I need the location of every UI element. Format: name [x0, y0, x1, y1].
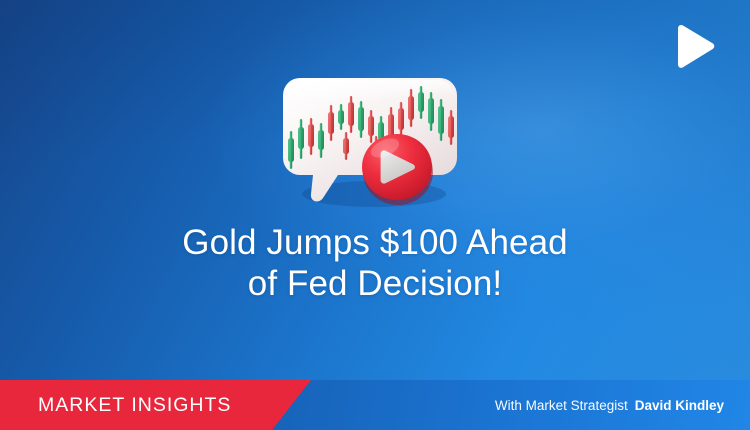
credit-prefix: With Market Strategist — [495, 398, 628, 413]
bottom-banner: MARKET INSIGHTS With Market Strategist D… — [0, 380, 750, 430]
headline-line-2: of Fed Decision! — [0, 263, 750, 304]
play-triangle-icon[interactable] — [671, 22, 719, 72]
speech-bubble-candlestick-chart — [282, 72, 468, 207]
background-vignette — [0, 0, 750, 430]
video-thumbnail: Gold Jumps $100 Ahead of Fed Decision! M… — [0, 0, 750, 430]
play-button-badge-icon — [362, 134, 433, 205]
presenter-name: David Kindley — [635, 398, 724, 413]
presenter-credit: With Market Strategist David Kindley — [495, 380, 724, 430]
page-title: Gold Jumps $100 Ahead of Fed Decision! — [0, 222, 750, 304]
banner-label: MARKET INSIGHTS — [38, 380, 231, 430]
headline-line-1: Gold Jumps $100 Ahead — [182, 223, 567, 262]
